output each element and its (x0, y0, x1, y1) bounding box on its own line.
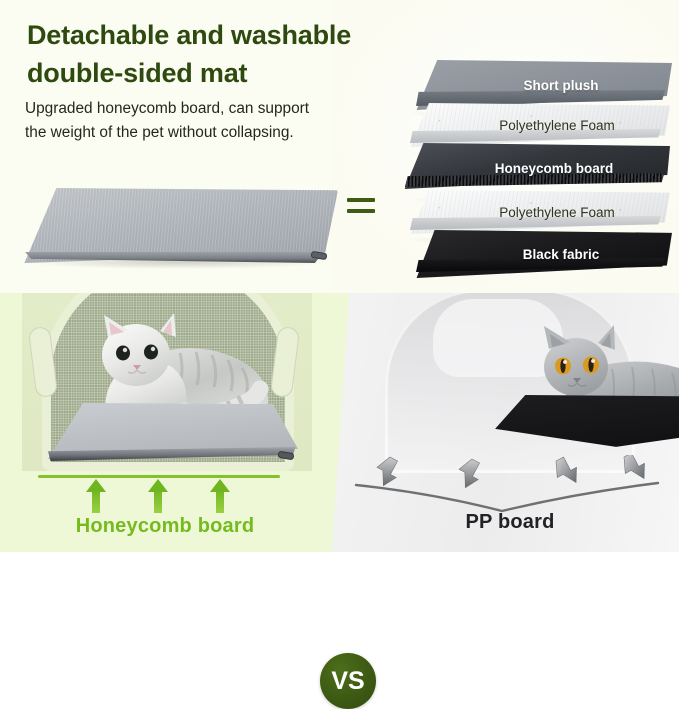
subtitle-line-1: Upgraded honeycomb board, can support (25, 97, 385, 121)
downward-force-arrows (360, 455, 660, 499)
infographic-page: Detachable and washable double-sided mat… (0, 0, 679, 552)
top-section: Detachable and washable double-sided mat… (0, 0, 679, 293)
layer-label: Honeycomb board (459, 161, 614, 176)
layer-black-fabric: Black fabric (414, 230, 672, 278)
headline-line-2: double-sided mat (24, 54, 250, 92)
comparison-panel-right: PP board (330, 293, 679, 552)
right-panel-label: PP board (350, 511, 670, 534)
zipper-pull-icon (276, 451, 294, 461)
layer-polyethylene-foam-top: Polyethylene Foam (408, 103, 670, 147)
left-panel-label: Honeycomb board (0, 515, 330, 538)
layer-polyethylene-foam-bottom: Polyethylene Foam (408, 190, 670, 234)
vs-badge: VS (320, 653, 376, 709)
layer-label: Polyethylene Foam (463, 118, 615, 133)
equals-bar-bottom (347, 209, 375, 213)
support-line-straight (38, 475, 280, 478)
layer-label: Black fabric (487, 247, 600, 262)
arrow-up-icon (86, 479, 106, 513)
zipper-pull-icon (309, 250, 327, 260)
arrow-up-icon (148, 479, 168, 513)
layer-label: Polyethylene Foam (463, 205, 615, 220)
arrow-up-icon (210, 479, 230, 513)
layer-stack-diagram: Short plush Polyethylene Foam Honeycomb … (400, 60, 672, 282)
honeycomb-mat-left (48, 403, 298, 471)
mat-drop-shadow (30, 260, 325, 269)
headline-line-1: Detachable and washable (24, 16, 354, 54)
comparison-panel-left: Honeycomb board (0, 293, 360, 552)
subtitle-line-2: the weight of the pet without collapsing… (25, 121, 385, 145)
headline-text-1: Detachable and washable (27, 20, 351, 50)
equals-icon (347, 198, 375, 220)
headline-text-2: double-sided mat (27, 58, 247, 88)
product-mat-image (18, 188, 338, 276)
comparison-section: Honeycomb board (0, 293, 679, 552)
upward-force-arrows (38, 479, 280, 515)
mat-plush-texture (18, 188, 338, 263)
layer-label: Short plush (488, 78, 599, 93)
equals-bar-top (347, 198, 375, 202)
layer-honeycomb-board: Honeycomb board (402, 143, 670, 193)
page-title: Detachable and washable double-sided mat (24, 16, 404, 92)
subtitle-paragraph: Upgraded honeycomb board, can support th… (25, 97, 385, 145)
